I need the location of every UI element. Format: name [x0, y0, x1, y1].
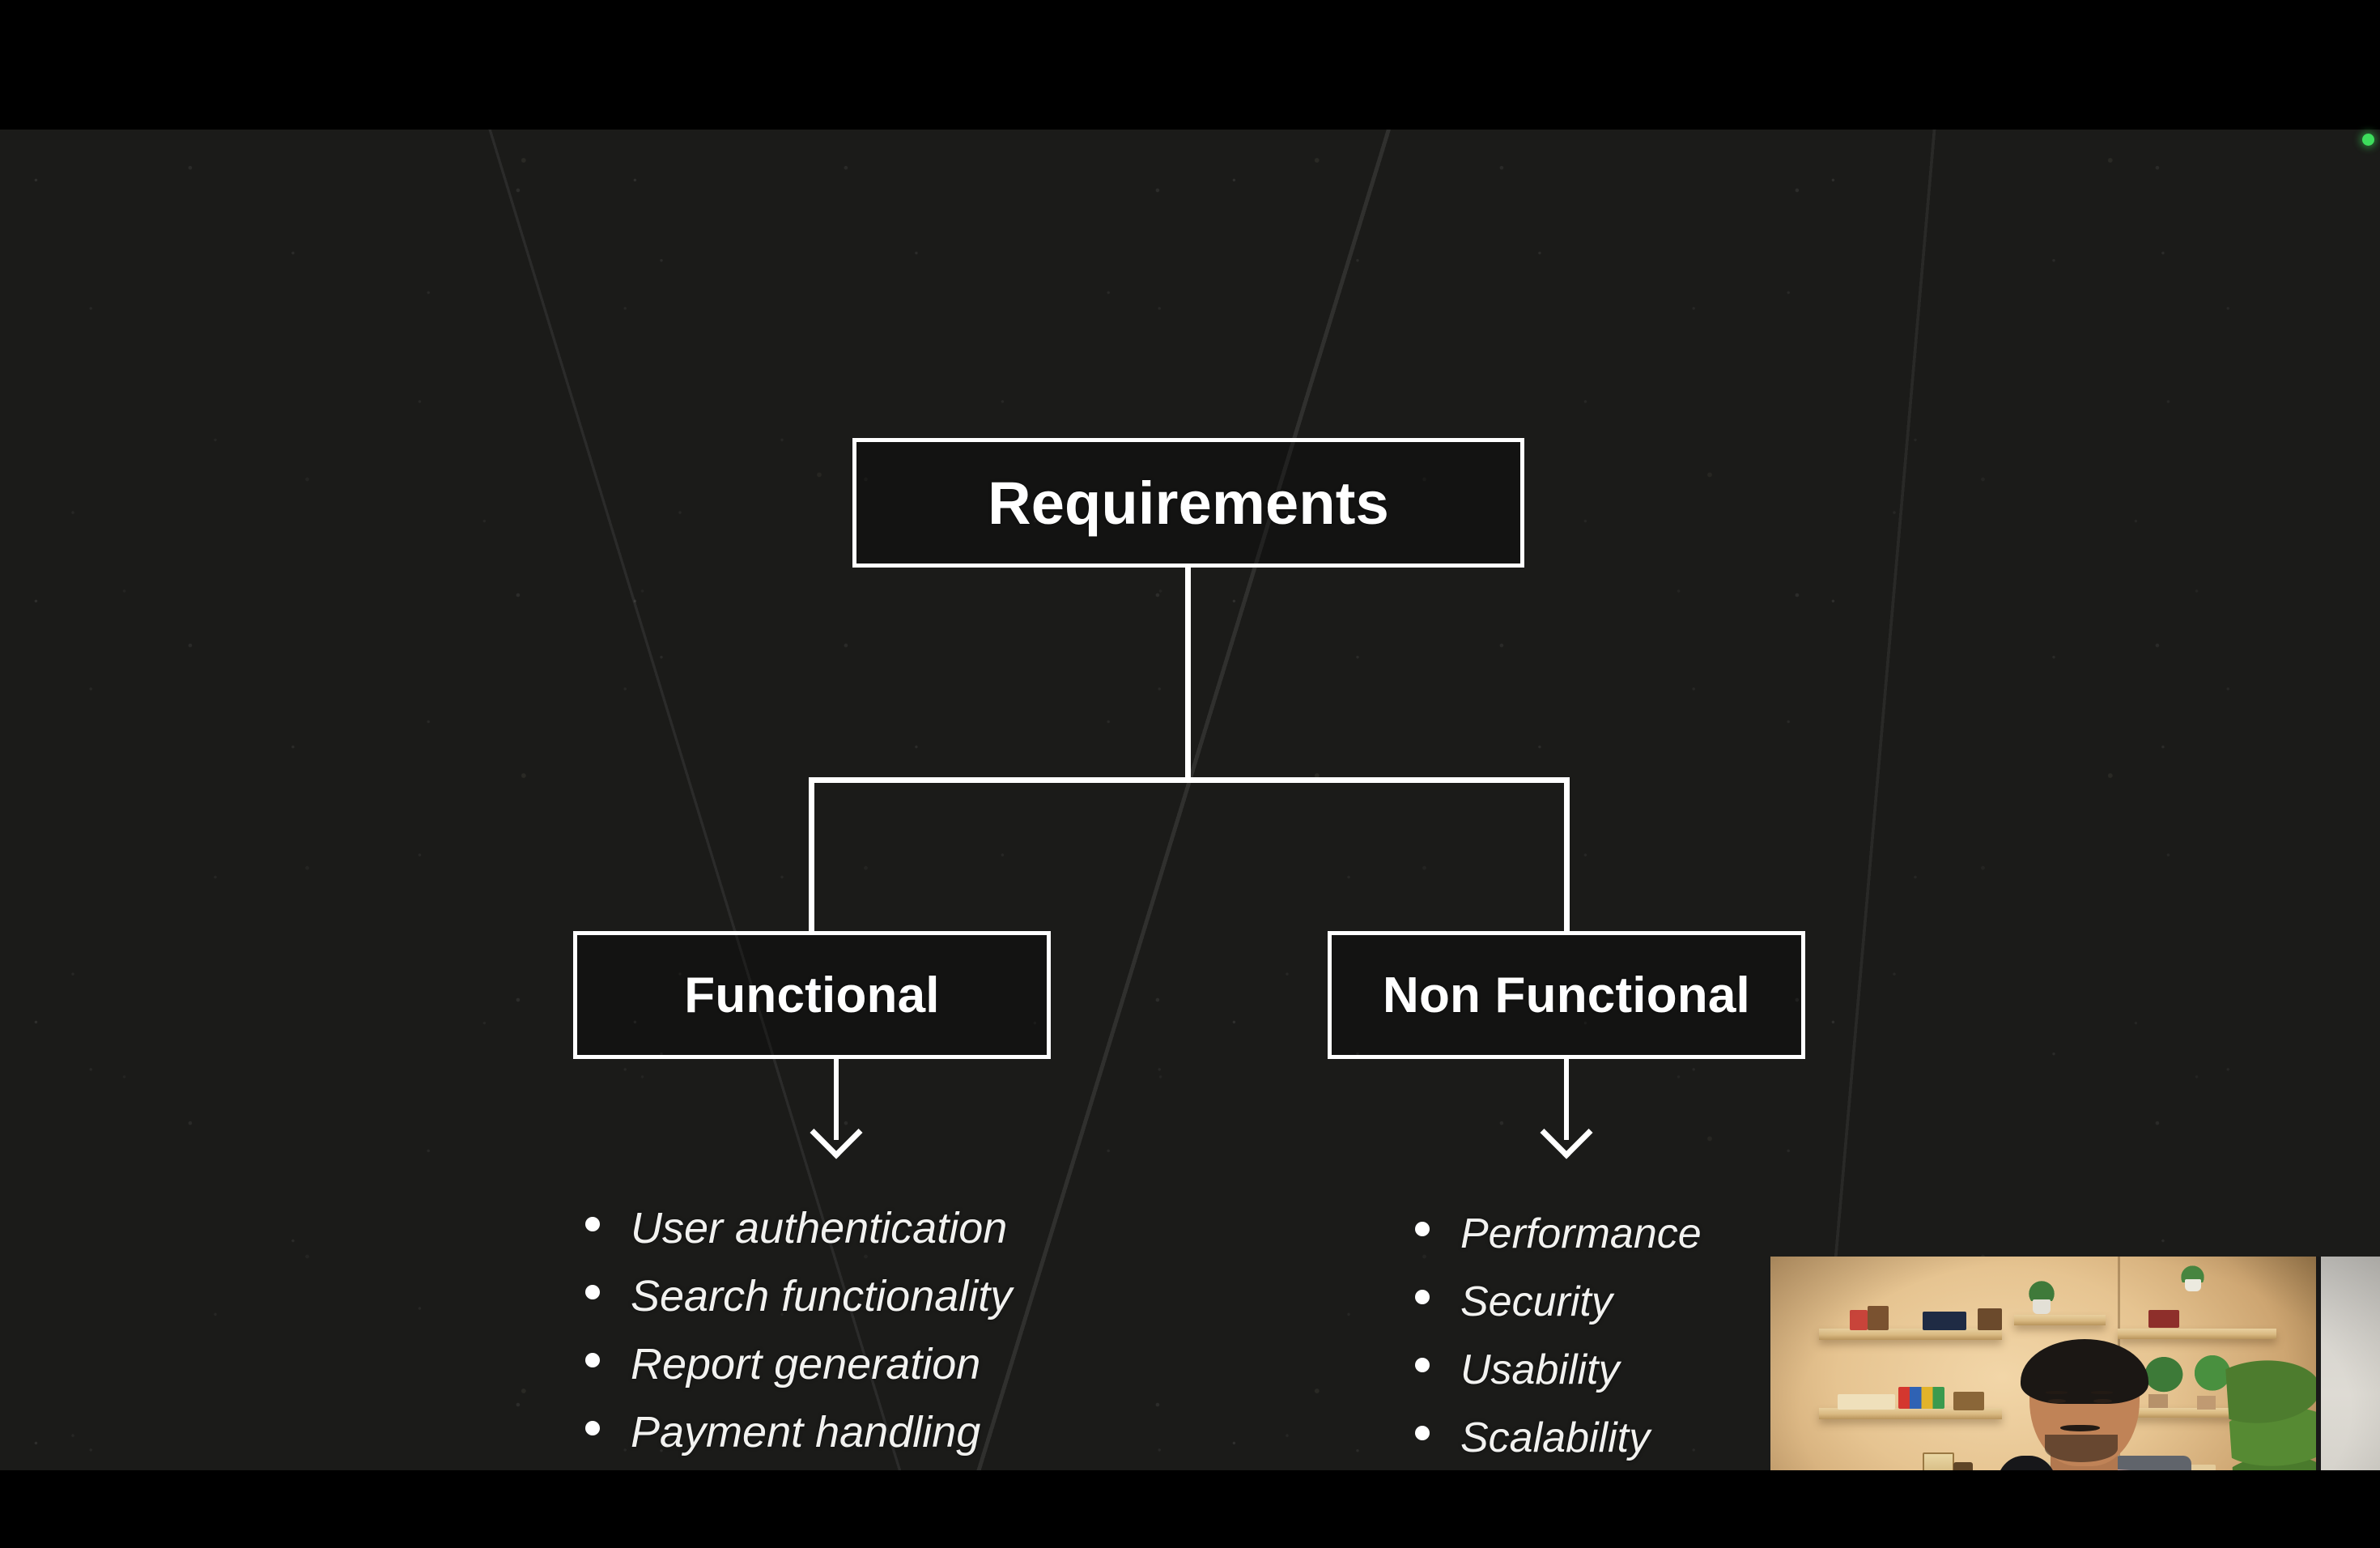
list-item-label: Scalability: [1460, 1404, 1650, 1470]
list-item-label: Usability: [1460, 1336, 1620, 1404]
bullet-dot-icon: [585, 1217, 600, 1231]
connector-root-stem: [1185, 568, 1191, 781]
letterbox-bottom-bar: [0, 1470, 2380, 1548]
list-item: Search functionality: [585, 1262, 1012, 1330]
node-functional[interactable]: Functional: [573, 931, 1051, 1059]
list-item-label: Performance: [1460, 1200, 1702, 1268]
bullet-dot-icon: [1415, 1426, 1430, 1440]
connector-left-drop: [809, 777, 814, 933]
arrow-down-functional-icon: [812, 1059, 861, 1180]
presenter: [1770, 1257, 2380, 1470]
bullet-dot-icon: [1415, 1358, 1430, 1372]
bullet-dot-icon: [585, 1285, 600, 1299]
non-functional-requirements-list: Performance Security Usability Scalabili…: [1415, 1200, 1702, 1470]
list-item: Security: [1415, 1268, 1702, 1336]
list-item: Scalability: [1415, 1404, 1702, 1470]
bullet-dot-icon: [585, 1421, 600, 1435]
list-item: Usability: [1415, 1336, 1702, 1404]
list-item: User authentication: [585, 1194, 1012, 1262]
presenter-hair: [2021, 1339, 2148, 1405]
bullet-dot-icon: [1415, 1222, 1430, 1236]
list-item: Report generation: [585, 1330, 1012, 1398]
functional-requirements-list: User authentication Search functionality…: [585, 1194, 1012, 1466]
list-item: Payment handling: [585, 1398, 1012, 1466]
list-item-label: User authentication: [631, 1194, 1007, 1262]
node-non-functional[interactable]: Non Functional: [1328, 931, 1805, 1059]
node-requirements[interactable]: Requirements: [852, 438, 1524, 568]
room-side-panel: [2316, 1257, 2380, 1470]
letterbox-top-bar: [0, 0, 2380, 130]
connector-right-drop: [1564, 777, 1570, 933]
connector-horizontal-bus: [809, 777, 1570, 783]
list-item-label: Search functionality: [631, 1262, 1012, 1330]
arrow-head: [1540, 1106, 1592, 1159]
list-item-label: Report generation: [631, 1330, 980, 1398]
list-item-label: Security: [1460, 1268, 1613, 1336]
video-frame: Requirements Functional Non Functional U…: [0, 0, 2380, 1548]
presentation-slide: Requirements Functional Non Functional U…: [0, 130, 2380, 1470]
list-item-label: Payment handling: [631, 1398, 980, 1466]
list-item: Performance: [1415, 1200, 1702, 1268]
recording-indicator-icon: [2362, 134, 2374, 146]
presenter-webcam[interactable]: [1770, 1257, 2380, 1470]
bullet-dot-icon: [1415, 1290, 1430, 1304]
arrow-down-non-functional-icon: [1542, 1059, 1591, 1180]
bullet-dot-icon: [585, 1353, 600, 1367]
arrow-head: [810, 1106, 862, 1159]
